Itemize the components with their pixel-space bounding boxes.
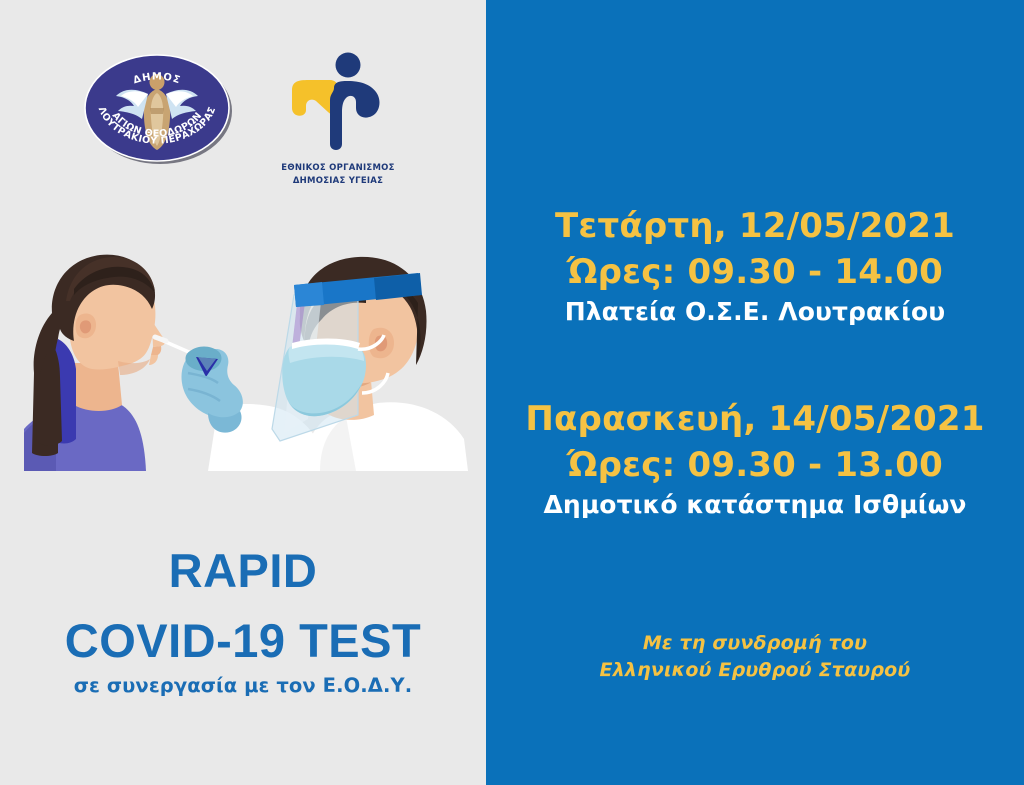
eody-caption-line-2: ΔΗΜΟΣΙΑΣ ΥΓΕΙΑΣ xyxy=(262,175,414,188)
event-block: Παρασκευή, 14/05/2021 Ώρες: 09.30 - 13.0… xyxy=(486,396,1024,522)
event-hours: Ώρες: 09.30 - 13.00 xyxy=(486,442,1024,488)
headline-subtitle: σε συνεργασία με τον Ε.Ο.Δ.Υ. xyxy=(0,673,486,699)
event-date: Παρασκευή, 14/05/2021 xyxy=(486,396,1024,442)
logo-row: ΔΗΜΟΣ ΛΟΥΤΡΑΚΙΟΥ ΠΕΡΑΧΩΡΑΣ ΑΓΙΩΝ ΘΕΟΔΩΡΩ… xyxy=(0,38,486,178)
event-place: Δημοτικό κατάστημα Ισθμίων xyxy=(486,488,1024,522)
municipality-seal-icon: ΔΗΜΟΣ ΛΟΥΤΡΑΚΙΟΥ ΠΕΡΑΧΩΡΑΣ ΑΓΙΩΝ ΘΕΟΔΩΡΩ… xyxy=(78,48,236,168)
credit-line-1: Με τη συνδρομή του xyxy=(486,630,1024,657)
eody-caption: ΕΘΝΙΚΟΣ ΟΡΓΑΝΙΣΜΟΣ ΔΗΜΟΣΙΑΣ ΥΓΕΙΑΣ xyxy=(262,162,414,188)
event-block: Τετάρτη, 12/05/2021 Ώρες: 09.30 - 14.00 … xyxy=(486,203,1024,329)
patient-figure xyxy=(24,255,165,471)
credit-line-2: Ελληνικού Ερυθρού Σταυρού xyxy=(486,657,1024,684)
headline-rapid: RAPID xyxy=(0,543,486,599)
credit-block: Με τη συνδρομή του Ελληνικού Ερυθρού Στα… xyxy=(486,630,1024,684)
poster-canvas: ΔΗΜΟΣ ΛΟΥΤΡΑΚΙΟΥ ΠΕΡΑΧΩΡΑΣ ΑΓΙΩΝ ΘΕΟΔΩΡΩ… xyxy=(0,0,1024,785)
event-place: Πλατεία Ο.Σ.Ε. Λουτρακίου xyxy=(486,295,1024,329)
headline-block: RAPID COVID-19 TEST σε συνεργασία με τον… xyxy=(0,543,486,699)
eody-figure-icon xyxy=(272,48,402,178)
event-hours: Ώρες: 09.30 - 14.00 xyxy=(486,249,1024,295)
covid-nasal-swab-test-illustration xyxy=(22,243,472,471)
event-date: Τετάρτη, 12/05/2021 xyxy=(486,203,1024,249)
eody-caption-line-1: ΕΘΝΙΚΟΣ ΟΡΓΑΝΙΣΜΟΣ xyxy=(262,162,414,175)
headline-covid-test: COVID-19 TEST xyxy=(0,611,486,671)
